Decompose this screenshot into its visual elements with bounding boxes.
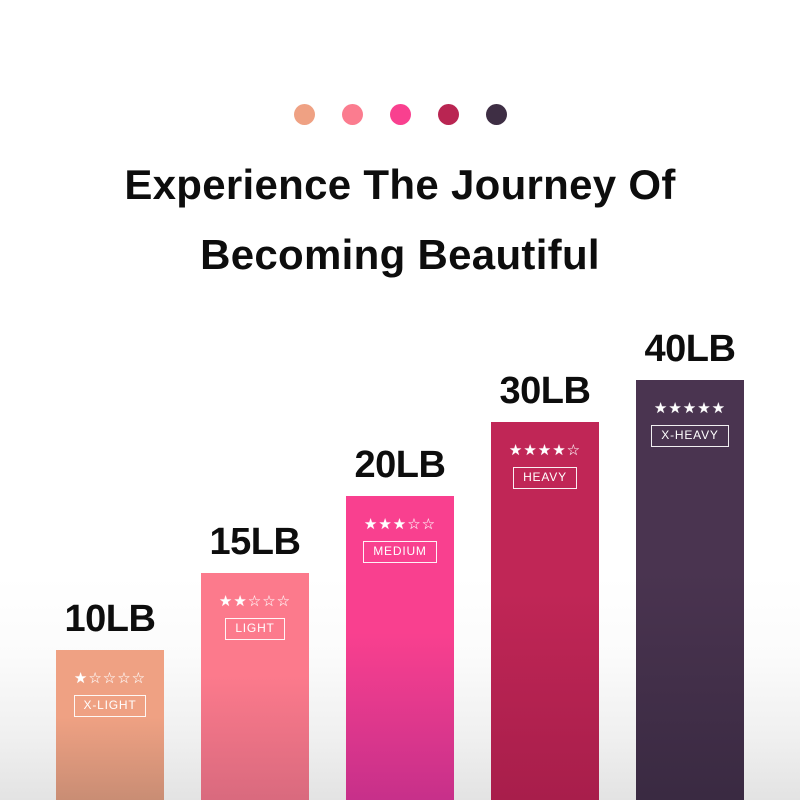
dot-x-heavy-icon: [486, 104, 507, 125]
dot-x-light-icon: [294, 104, 315, 125]
bar-rect[interactable]: ★★★★☆HEAVY: [491, 422, 599, 800]
star-rating-icon: ★★★☆☆: [364, 517, 436, 532]
dot-light-icon: [342, 104, 363, 125]
bar-column-medium[interactable]: 20LB★★★☆☆MEDIUM: [346, 330, 454, 800]
dot-medium-icon: [390, 104, 411, 125]
star-rating-icon: ★★★★☆: [509, 443, 581, 458]
bar-rect[interactable]: ★★★★★X-HEAVY: [636, 380, 744, 800]
star-rating-icon: ★☆☆☆☆: [74, 671, 146, 686]
tier-badge: X-HEAVY: [651, 425, 728, 447]
dot-heavy-icon: [438, 104, 459, 125]
bar-rect[interactable]: ★☆☆☆☆X-LIGHT: [56, 650, 164, 800]
bar-value-label: 15LB: [210, 523, 301, 561]
bar-column-x-light[interactable]: 10LB★☆☆☆☆X-LIGHT: [56, 330, 164, 800]
bar-value-label: 20LB: [355, 446, 446, 484]
bar-rect[interactable]: ★★★☆☆MEDIUM: [346, 496, 454, 800]
bar-value-label: 30LB: [500, 372, 591, 410]
page-title: Experience The Journey Of Becoming Beaut…: [0, 150, 800, 290]
bar-value-label: 10LB: [65, 600, 156, 638]
product-poster: Experience The Journey Of Becoming Beaut…: [0, 0, 800, 800]
resistance-bar-chart: 10LB★☆☆☆☆X-LIGHT15LB★★☆☆☆LIGHT20LB★★★☆☆M…: [0, 330, 800, 800]
page-title-line-2: Becoming Beautiful: [0, 220, 800, 290]
tier-badge: LIGHT: [225, 618, 284, 640]
tier-badge: X-LIGHT: [74, 695, 147, 717]
star-rating-icon: ★★★★★: [654, 401, 726, 416]
color-swatch-row: [0, 104, 800, 125]
bar-column-light[interactable]: 15LB★★☆☆☆LIGHT: [201, 330, 309, 800]
bar-column-x-heavy[interactable]: 40LB★★★★★X-HEAVY: [636, 330, 744, 800]
page-title-line-1: Experience The Journey Of: [0, 150, 800, 220]
tier-badge: MEDIUM: [363, 541, 436, 563]
bar-rect[interactable]: ★★☆☆☆LIGHT: [201, 573, 309, 800]
tier-badge: HEAVY: [513, 467, 577, 489]
bar-value-label: 40LB: [645, 330, 736, 368]
star-rating-icon: ★★☆☆☆: [219, 594, 291, 609]
bar-column-heavy[interactable]: 30LB★★★★☆HEAVY: [491, 330, 599, 800]
